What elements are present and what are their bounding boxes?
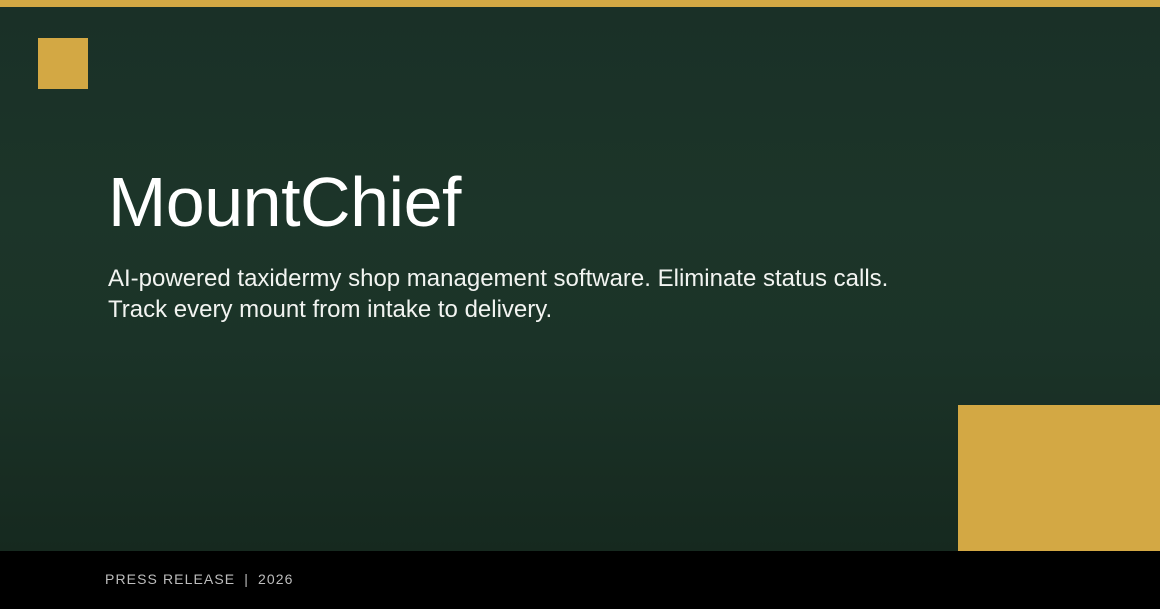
footer-year: 2026 bbox=[258, 569, 294, 589]
presentation-slide: MountChief AI-powered taxidermy shop man… bbox=[0, 0, 1160, 609]
gold-accent-block bbox=[958, 405, 1160, 551]
footer-label: PRESS RELEASE bbox=[105, 569, 235, 589]
logo-square-mark bbox=[38, 38, 88, 89]
slide-canvas: MountChief AI-powered taxidermy shop man… bbox=[0, 7, 1160, 551]
footer-text: PRESS RELEASE | 2026 bbox=[105, 569, 294, 589]
slide-subtitle: AI-powered taxidermy shop management sof… bbox=[108, 263, 943, 325]
footer-separator: | bbox=[235, 569, 258, 589]
slide-footer-bar: PRESS RELEASE | 2026 bbox=[0, 551, 1160, 609]
page-title: MountChief bbox=[108, 162, 968, 242]
slide-content: MountChief AI-powered taxidermy shop man… bbox=[108, 162, 968, 325]
top-accent-bar bbox=[0, 0, 1160, 7]
